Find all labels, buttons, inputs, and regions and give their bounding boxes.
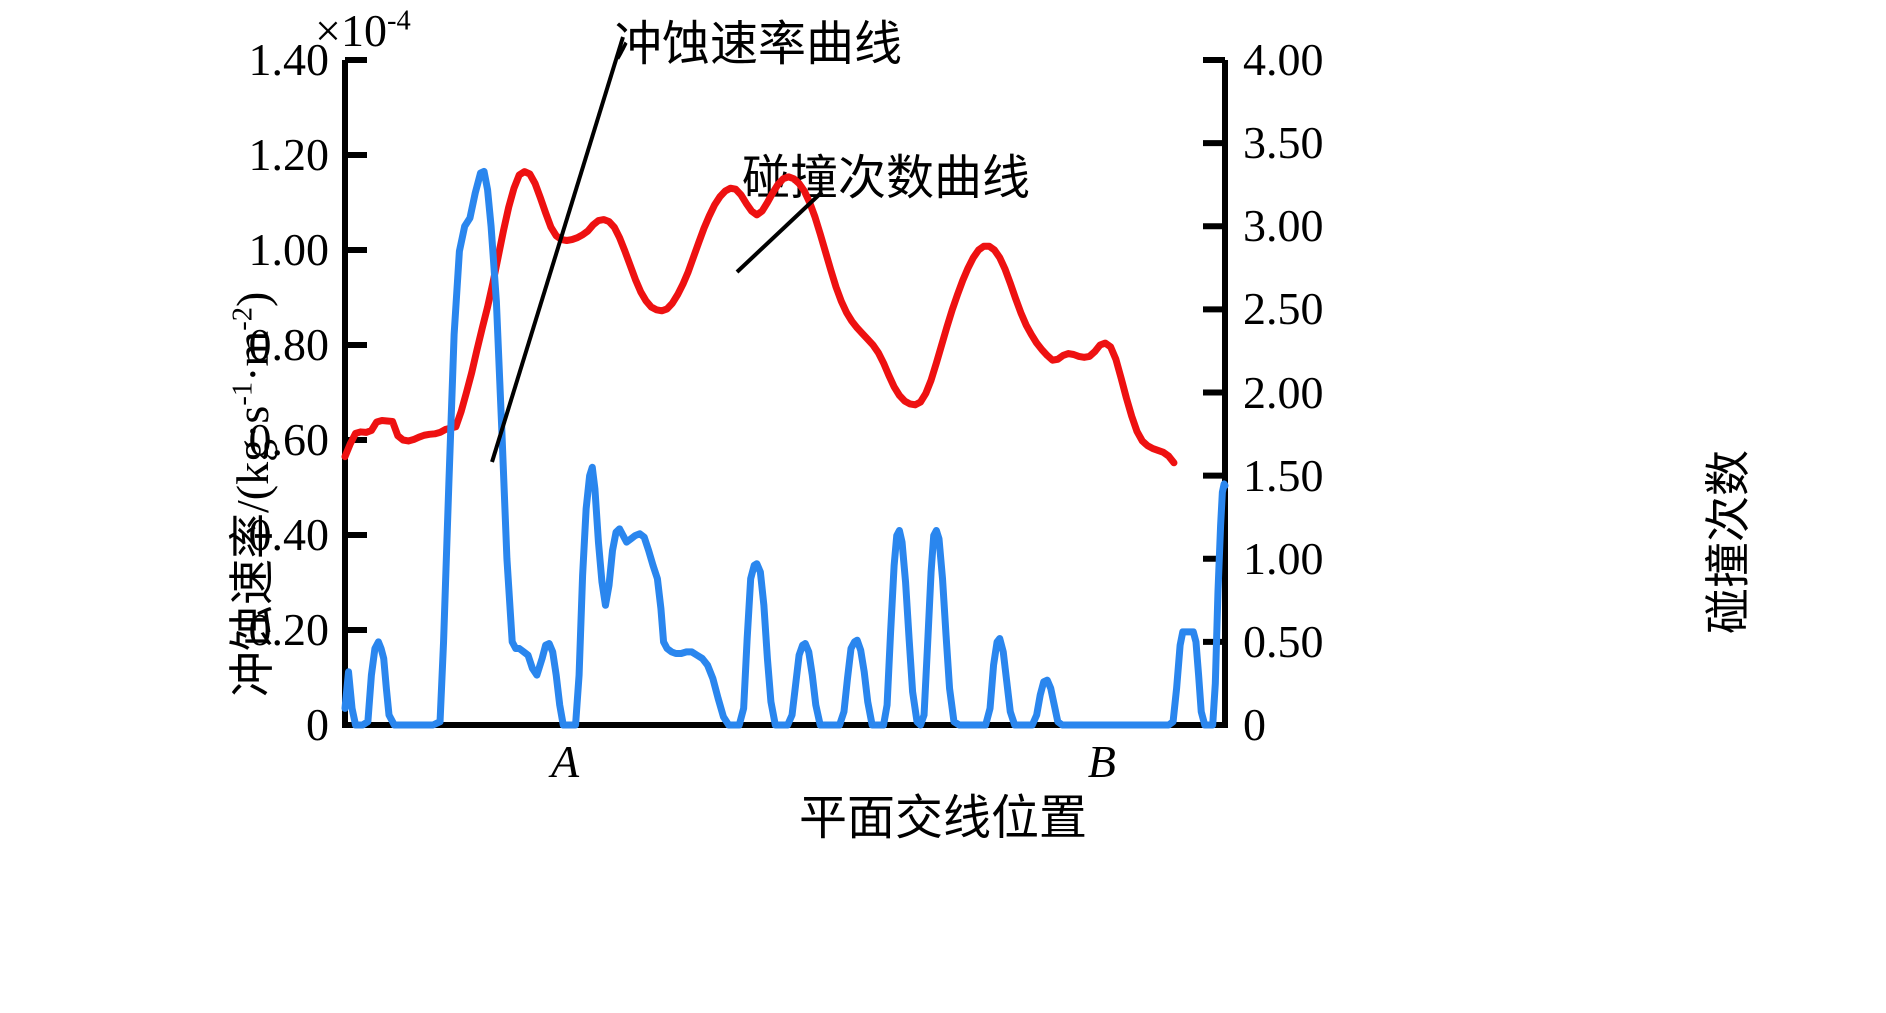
y-axis-left-ticks xyxy=(345,60,367,725)
plot-canvas xyxy=(0,0,1886,1013)
collision-count-curve xyxy=(345,171,1225,725)
chart-figure: ×10-4 冲蚀速率/(kg·s-1·m-2) 碰撞次数 平面交线位置 冲蚀速率… xyxy=(0,0,1886,1013)
erosion-rate-leader-line xyxy=(492,37,623,462)
axis-lines xyxy=(342,60,1228,725)
